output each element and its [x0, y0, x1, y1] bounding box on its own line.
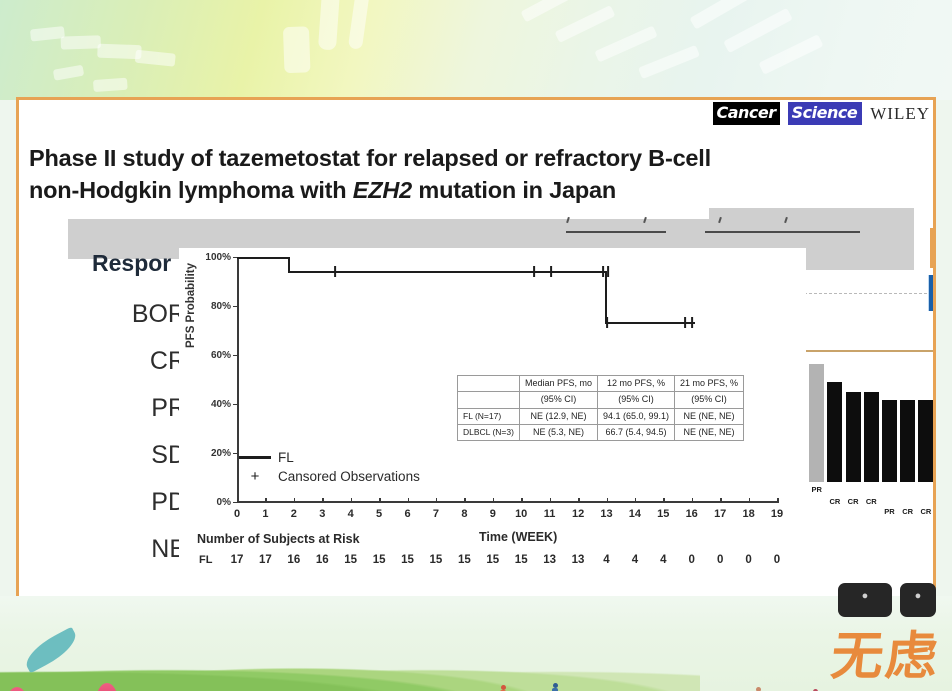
top-decorative-banner	[0, 0, 952, 100]
risk-value: 4	[632, 554, 638, 566]
leaf-motif-left	[26, 0, 253, 100]
x-tick-label: 11	[544, 508, 556, 520]
stats-sub-blank	[458, 392, 520, 408]
km-segment	[605, 322, 695, 324]
risk-value: 4	[603, 554, 609, 566]
x-tick-label: 12	[572, 508, 584, 520]
censor-mark	[684, 317, 686, 328]
stats-sub-ci: (95% CI)	[519, 392, 597, 408]
risk-value: 17	[259, 554, 272, 566]
toolbar-button-left[interactable]: ●	[838, 583, 892, 617]
x-axis-label: Time (WEEK)	[479, 530, 557, 544]
risk-table-title: Number of Subjects at Risk	[197, 532, 360, 546]
y-tick-mark	[233, 355, 238, 357]
censor-mark	[533, 266, 535, 277]
band-rule-right	[705, 231, 860, 233]
title-line-2: non-Hodgkin lymphoma with EZH2 mutation …	[29, 174, 819, 206]
risk-value: 15	[344, 554, 357, 566]
bar	[882, 400, 897, 482]
km-segment	[237, 257, 290, 259]
title-line-1: Phase II study of tazemetostat for relap…	[29, 142, 819, 174]
x-tick-mark	[607, 498, 609, 503]
x-tick-mark	[578, 498, 580, 503]
bar-label: CR	[866, 497, 877, 506]
y-tick-label: 40%	[197, 399, 231, 410]
toolbar-button-right[interactable]: ●	[900, 583, 936, 617]
stats-sub-ci: (95% CI)	[597, 392, 674, 408]
bar	[827, 382, 842, 482]
response-item-bor: BOR	[132, 300, 186, 329]
bar-chart-top-rule	[785, 350, 936, 352]
risk-value: 0	[689, 554, 695, 566]
x-tick-label: 14	[629, 508, 641, 520]
x-tick-label: 0	[234, 508, 240, 520]
bar	[846, 392, 861, 482]
cancer-wordmark: Cancer	[713, 102, 780, 125]
risk-value: 16	[316, 554, 329, 566]
risk-value: 15	[430, 554, 443, 566]
bar	[809, 364, 824, 482]
slide-frame: CancerScience WILEY Phase II study of ta…	[16, 97, 936, 621]
x-tick-label: 1	[262, 508, 268, 520]
risk-value: 13	[543, 554, 556, 566]
x-tick-label: 17	[714, 508, 726, 520]
dashed-divider	[789, 293, 936, 294]
x-tick-mark	[663, 498, 665, 503]
bar-label: CR	[902, 507, 913, 516]
title-line-2-post: mutation in Japan	[412, 177, 616, 203]
calligraphy-text: 无虑	[828, 614, 944, 689]
x-tick-mark	[521, 498, 523, 503]
bottom-decorative-band: 无虑	[0, 596, 952, 691]
y-tick-label: 60%	[197, 350, 231, 361]
page-title: Phase II study of tazemetostat for relap…	[29, 142, 819, 207]
y-tick-label: 0%	[197, 497, 231, 508]
y-tick-label: 80%	[197, 301, 231, 312]
chart-legend: FL + Cansored Observations	[239, 448, 420, 486]
x-tick-label: 19	[771, 508, 783, 520]
x-tick-label: 3	[319, 508, 325, 520]
x-tick-mark	[777, 498, 779, 503]
censor-mark	[606, 317, 608, 328]
x-tick-mark	[720, 498, 722, 503]
x-tick-mark	[322, 498, 324, 503]
risk-value: 17	[231, 554, 244, 566]
band-rule-left	[566, 231, 666, 233]
stats-corner-cell	[458, 376, 520, 392]
y-axis-label: PFS Probability	[185, 263, 197, 348]
km-segment	[605, 271, 607, 323]
orange-edge-accent	[930, 228, 933, 268]
censor-mark	[602, 266, 604, 277]
x-tick-mark	[493, 498, 495, 503]
x-tick-mark	[294, 498, 296, 503]
stats-cell: NE (5.3, NE)	[519, 424, 597, 440]
circle-icon: ●	[915, 590, 922, 602]
risk-row-label: FL	[199, 554, 212, 566]
risk-value: 15	[401, 554, 414, 566]
censor-mark	[550, 266, 552, 277]
x-tick-label: 16	[686, 508, 698, 520]
stats-col-12mo: 12 mo PFS, %	[597, 376, 674, 392]
table-row: DLBCL (N=3) NE (5.3, NE) 66.7 (5.4, 94.5…	[458, 424, 744, 440]
x-axis-line	[237, 501, 777, 503]
risk-value: 16	[287, 554, 300, 566]
x-tick-label: 10	[515, 508, 527, 520]
x-tick-mark	[749, 498, 751, 503]
stats-sub-ci: (95% CI)	[675, 392, 744, 408]
risk-value: 0	[774, 554, 780, 566]
km-chart-panel: PFS Probability 0% 20% 40% 60% 80% 100%	[179, 248, 806, 573]
journal-logo: CancerScience WILEY	[713, 102, 931, 125]
leaf-motif-center	[245, 0, 455, 100]
bar	[864, 392, 879, 482]
bar	[918, 400, 933, 482]
x-tick-label: 8	[461, 508, 467, 520]
censor-mark	[334, 266, 336, 277]
censor-mark	[607, 266, 609, 277]
stats-cell: NE (NE, NE)	[675, 424, 744, 440]
x-tick-mark	[408, 498, 410, 503]
stats-cell: NE (NE, NE)	[675, 408, 744, 424]
risk-value: 15	[515, 554, 528, 566]
x-tick-label: 18	[742, 508, 754, 520]
x-tick-label: 6	[404, 508, 410, 520]
stats-cell: 94.1 (65.0, 99.1)	[597, 408, 674, 424]
response-column-header: Respor	[92, 250, 171, 277]
bar-label: CR	[848, 497, 859, 506]
risk-value: 0	[745, 554, 751, 566]
table-row: FL (N=17) NE (12.9, NE) 94.1 (65.0, 99.1…	[458, 408, 744, 424]
blue-edge-marker	[928, 275, 933, 311]
gene-name-ezh2: EZH2	[353, 177, 412, 203]
x-tick-mark	[436, 498, 438, 503]
x-tick-label: 7	[433, 508, 439, 520]
stats-row-label: DLBCL (N=3)	[458, 424, 520, 440]
risk-value: 15	[458, 554, 471, 566]
bar-label: PR	[811, 485, 821, 494]
x-tick-label: 5	[376, 508, 382, 520]
x-tick-label: 9	[490, 508, 496, 520]
y-tick-mark	[233, 453, 238, 455]
title-line-2-pre: non-Hodgkin lymphoma with	[29, 177, 353, 203]
x-tick-mark	[265, 498, 267, 503]
legend-label: FL	[278, 450, 294, 465]
stats-cell: NE (12.9, NE)	[519, 408, 597, 424]
table-subheader-row: (95% CI) (95% CI) (95% CI)	[458, 392, 744, 408]
censor-mark	[691, 317, 693, 328]
y-tick-mark	[233, 306, 238, 308]
stats-col-median: Median PFS, mo	[519, 376, 597, 392]
science-wordmark: Science	[788, 102, 863, 125]
stats-cell: 66.7 (5.4, 94.5)	[597, 424, 674, 440]
y-tick-label: 100%	[197, 252, 231, 263]
x-tick-label: 13	[600, 508, 612, 520]
risk-value: 4	[660, 554, 666, 566]
risk-value: 15	[486, 554, 499, 566]
plus-marker-icon: +	[239, 469, 271, 484]
x-tick-mark	[237, 498, 239, 503]
legend-entry-censored: + Cansored Observations	[239, 467, 420, 486]
legend-entry-fl: FL	[239, 448, 420, 467]
x-tick-label: 15	[657, 508, 669, 520]
bar-label: CR	[920, 507, 931, 516]
risk-value: 0	[717, 554, 723, 566]
legend-line-icon	[239, 456, 271, 458]
x-tick-label: 4	[348, 508, 354, 520]
legend-label: Cansored Observations	[278, 469, 420, 484]
x-tick-mark	[550, 498, 552, 503]
swimmer-bar-chart: RPRCRCRCRPRCRCR	[785, 350, 936, 510]
leaf-motif-right	[520, 0, 820, 100]
x-tick-mark	[635, 498, 637, 503]
x-tick-mark	[379, 498, 381, 503]
stats-row-label: FL (N=17)	[458, 408, 520, 424]
bar	[900, 400, 915, 482]
bar-label: PR	[884, 507, 894, 516]
y-tick-mark	[233, 404, 238, 406]
table-header-row: Median PFS, mo 12 mo PFS, % 21 mo PFS, %	[458, 376, 744, 392]
user-icon: ●	[862, 590, 869, 602]
pfs-stats-table: Median PFS, mo 12 mo PFS, % 21 mo PFS, %…	[457, 375, 744, 441]
x-tick-mark	[351, 498, 353, 503]
x-tick-mark	[692, 498, 694, 503]
x-tick-mark	[464, 498, 466, 503]
x-tick-label: 2	[291, 508, 297, 520]
risk-value: 13	[572, 554, 585, 566]
risk-value: 15	[373, 554, 386, 566]
y-tick-label: 20%	[197, 448, 231, 459]
stats-col-21mo: 21 mo PFS, %	[675, 376, 744, 392]
wiley-wordmark: WILEY	[870, 104, 930, 124]
bar-label: CR	[829, 497, 840, 506]
